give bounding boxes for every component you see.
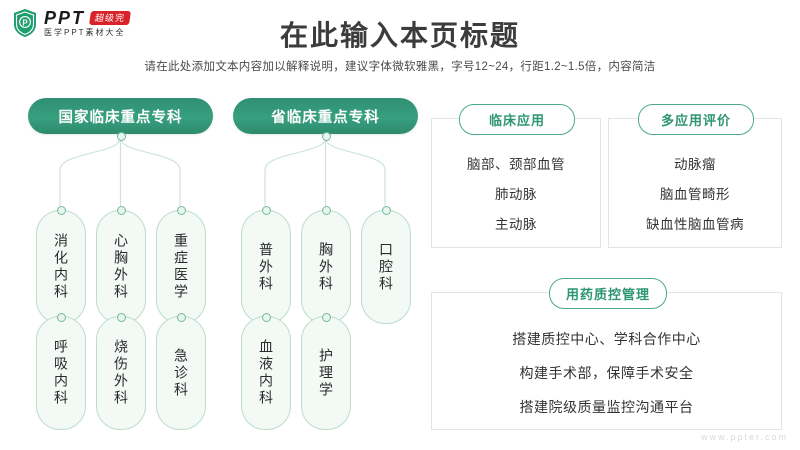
panel-title-pill[interactable]: 用药质控管理 [549,278,667,309]
capsule-node-dot [262,206,271,215]
specialty-capsule[interactable]: 消化内科 [36,210,86,324]
specialty-capsule[interactable]: 护理学 [301,316,351,430]
specialty-label: 口腔科 [377,242,395,293]
panel-item: 搭建院级质量监控沟通平台 [520,397,694,417]
branch-connector [28,128,213,218]
panel-body: 动脉瘤 脑血管畸形 缺血性脑血管病 [609,145,781,241]
page-subtitle: 请在此处添加文本内容加以解释说明，建议字体微软雅黑，字号12~24，行距1.2~… [0,58,800,74]
capsule-node-dot [322,313,331,322]
panel-body: 脑部、颈部血管 肺动脉 主动脉 [432,145,600,241]
watermark: www.ppter.com [701,432,788,442]
panel-multi-application-evaluation: 多应用评价 动脉瘤 脑血管畸形 缺血性脑血管病 [608,118,782,248]
capsule-node-dot [382,206,391,215]
tree-column: 胸外科 护理学 [301,210,349,428]
panel-item: 脑血管畸形 [660,183,730,203]
tree-column: 重症医学 急诊科 [156,210,204,428]
specialty-label: 重症医学 [172,233,190,301]
page-title: 在此输入本页标题 [0,14,800,54]
panel-body: 搭建质控中心、学科合作中心 构建手术部，保障手术安全 搭建院级质量监控沟通平台 [432,323,781,423]
branch-connector [233,128,418,218]
specialty-capsule[interactable]: 口腔科 [361,210,411,324]
specialty-capsule[interactable]: 血液内科 [241,316,291,430]
tree-column: 消化内科 呼吸内科 [36,210,84,428]
panel-item: 构建手术部，保障手术安全 [520,363,694,383]
specialty-capsule[interactable]: 胸外科 [301,210,351,324]
panel-item: 搭建质控中心、学科合作中心 [512,329,701,349]
capsule-node-dot [322,206,331,215]
specialty-capsule[interactable]: 烧伤外科 [96,316,146,430]
specialty-tree: 国家临床重点专科 消化内科 呼吸内科 心胸外科 烧伤外科 [28,98,418,428]
specialty-label: 呼吸内科 [52,339,70,407]
specialty-capsule[interactable]: 普外科 [241,210,291,324]
capsule-node-dot [262,313,271,322]
specialty-capsule[interactable]: 重症医学 [156,210,206,324]
panel-item: 主动脉 [495,213,537,233]
capsule-node-dot [177,206,186,215]
specialty-label: 急诊科 [172,348,190,399]
tree-group-national: 国家临床重点专科 消化内科 呼吸内科 心胸外科 烧伤外科 [28,98,213,428]
branch-node-dot [117,132,126,141]
panel-title-pill[interactable]: 多应用评价 [638,104,754,135]
capsule-node-dot [57,313,66,322]
specialty-label: 心胸外科 [112,233,130,301]
specialty-label: 血液内科 [257,339,275,407]
panel-item: 肺动脉 [495,183,537,203]
panel-item: 缺血性脑血管病 [646,213,744,233]
specialty-label: 普外科 [257,242,275,293]
specialty-capsule[interactable]: 急诊科 [156,316,206,430]
capsule-node-dot [117,206,126,215]
panel-item: 脑部、颈部血管 [467,153,565,173]
tree-column: 口腔科 [361,210,409,428]
panel-title-pill[interactable]: 临床应用 [459,104,575,135]
capsule-node-dot [117,313,126,322]
specialty-label: 胸外科 [317,242,335,293]
specialty-capsule[interactable]: 心胸外科 [96,210,146,324]
panel-clinical-application: 临床应用 脑部、颈部血管 肺动脉 主动脉 [431,118,601,248]
tree-column: 普外科 血液内科 [241,210,289,428]
tree-group-provincial: 省临床重点专科 普外科 血液内科 胸外科 护理学 口 [233,98,418,428]
branch-node-dot [322,132,331,141]
panel-item: 动脉瘤 [674,153,716,173]
capsule-node-dot [57,206,66,215]
specialty-capsule[interactable]: 呼吸内科 [36,316,86,430]
panel-medication-quality-control: 用药质控管理 搭建质控中心、学科合作中心 构建手术部，保障手术安全 搭建院级质量… [431,292,782,430]
specialty-label: 护理学 [317,348,335,399]
specialty-label: 烧伤外科 [112,339,130,407]
specialty-label: 消化内科 [52,233,70,301]
tree-column: 心胸外科 烧伤外科 [96,210,144,428]
capsule-node-dot [177,313,186,322]
